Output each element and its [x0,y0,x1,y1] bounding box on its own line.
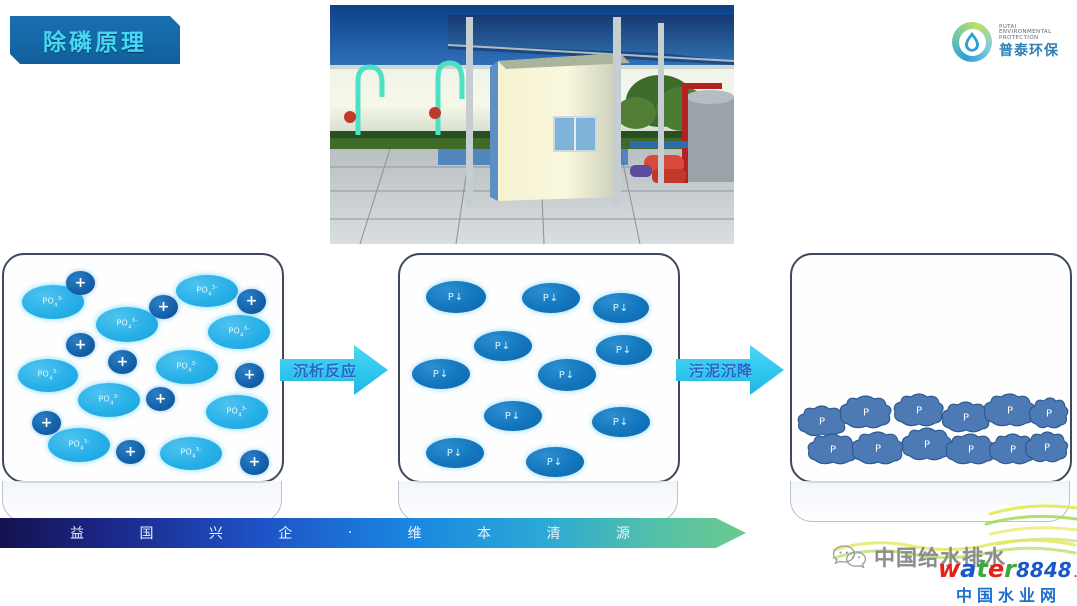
stage-2-reflection [398,481,678,522]
sludge-floc: P [1024,431,1070,465]
slogan-char: 维 [408,523,422,543]
slogan-char: 益 [70,523,84,543]
stage-1-panel: PO43- PO43- PO43- PO43- PO43- PO43- PO43… [2,253,284,483]
slide-title-banner: 除磷原理 [10,16,180,64]
logo-cn-name: 普泰环保 [999,44,1059,59]
p-precipitate: P↓ [593,293,649,323]
slogan-char: 源 [616,523,630,543]
watermark: 中国给水排水 w a t e r 8848 .com 中国水业网 [832,542,1077,602]
arrow-label: 沉析反应 [284,345,366,395]
p-precipitate: P↓ [522,283,580,313]
p-precipitate: P↓ [426,438,484,468]
po4-ion: PO43- [96,307,158,342]
wechat-icon [832,545,868,569]
cation-plus: + [235,363,264,388]
company-logo: PUTAI ENVIRONMENTAL PROTECTION 普泰环保 [952,22,1059,62]
sludge-floc: P [1028,397,1070,431]
logo-number: 8848 [1016,558,1072,582]
logo-en-line-3: PROTECTION [999,36,1059,42]
cation-plus: + [116,440,145,464]
sludge-floc: P [892,393,946,429]
cation-plus: + [66,333,95,357]
po4-ion: PO43- [18,359,78,392]
slogan-char: 本 [477,523,491,543]
p-precipitate: P↓ [426,281,486,313]
cation-plus: + [108,350,137,374]
site-name: 中国水业网 [956,582,1061,606]
po4-ion: PO43- [208,315,270,349]
cation-plus: + [237,289,266,314]
droplet-icon [964,32,980,52]
po4-ion: PO43- [206,395,268,429]
po4-ion: PO43- [156,350,218,384]
cation-plus: + [32,411,61,435]
logo-letter: e [988,557,1004,581]
po4-ion: PO43- [48,428,110,462]
cation-plus: + [146,387,175,411]
logo-letter: r [1004,557,1016,581]
stage-2-panel: P↓ P↓ P↓ P↓ P↓ P↓ P↓ P↓ P↓ P↓ P↓ [398,253,680,483]
stage-3-panel: P P P P P P P P P P P P [790,253,1072,483]
page-title: 除磷原理 [43,23,147,57]
water8848-logo: w a t e r 8848 .com [938,557,1077,582]
facility-render-photo [330,5,734,244]
slogan-char: 企 [278,523,292,543]
cation-plus: + [66,271,95,295]
logo-letter: w [938,557,960,581]
arrow-label: 污泥沉降 [680,345,762,395]
cation-plus: + [240,450,269,475]
logo-letter: t [976,557,987,581]
slogan-char: 清 [547,523,561,543]
cation-plus: + [149,295,178,319]
process-arrow-precipitation: 沉析反应 [280,345,388,395]
slogan-char: 兴 [209,523,223,543]
slogan-char: 国 [139,523,153,543]
slogan-characters: 益 国 兴 企 · 维 本 清 源 [70,518,630,548]
slogan-banner: 益 国 兴 企 · 维 本 清 源 [0,518,746,548]
process-arrow-sludge-settling: 污泥沉降 [676,345,784,395]
slogan-char: · [348,525,352,541]
po4-ion: PO43- [176,275,238,307]
p-precipitate: P↓ [474,331,532,361]
stage-1-reflection [2,481,282,522]
sludge-floc: P [838,395,894,431]
p-precipitate: P↓ [484,401,542,431]
p-precipitate: P↓ [592,407,650,437]
p-precipitate: P↓ [412,359,470,389]
logo-dotcom: .com [1074,569,1077,580]
po4-ion: PO43- [160,437,222,470]
p-precipitate: P↓ [526,447,584,477]
p-precipitate: P↓ [596,335,652,365]
sludge-floc: P [850,431,906,467]
logo-letter: a [960,557,976,581]
p-precipitate: P↓ [538,359,596,391]
water-drop-logo-icon [952,22,992,62]
po4-ion: PO43- [78,383,140,417]
